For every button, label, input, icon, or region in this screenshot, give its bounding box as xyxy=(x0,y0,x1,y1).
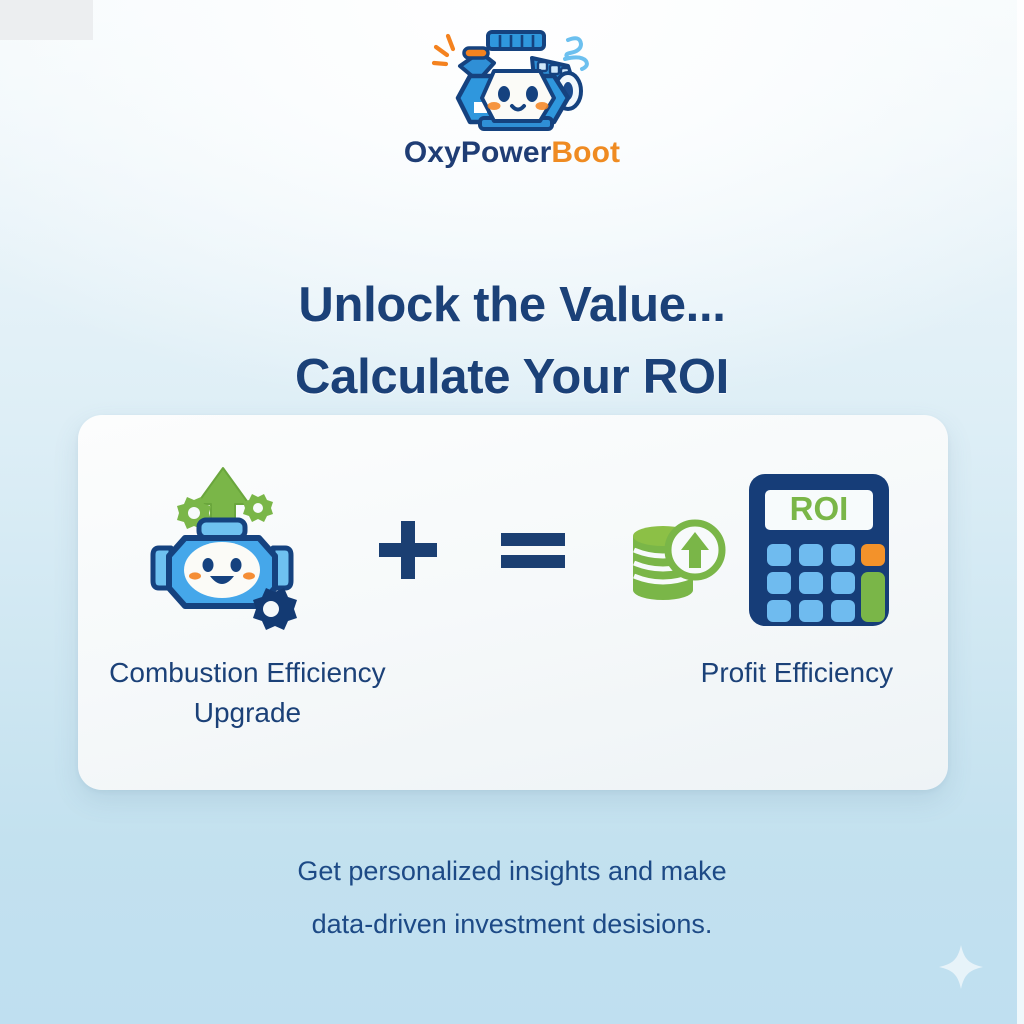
brand-name-primary: OxyPower xyxy=(404,136,552,169)
calculator-key-orange xyxy=(861,544,885,566)
brand-name-accent: Boot xyxy=(551,136,620,169)
label-combustion-upgrade: Combustion Efficiency Upgrade xyxy=(78,653,417,734)
blush-left xyxy=(189,572,201,579)
poster-canvas: OxyPowerBoot Unlock the Value... Calcula… xyxy=(0,0,1024,1024)
value-equation-card: ROI xyxy=(78,415,948,790)
equation-labels: Combustion Efficiency Upgrade Profit Eff… xyxy=(78,653,948,734)
equation-operator-equals xyxy=(468,527,598,573)
calculator-keys xyxy=(767,544,855,622)
equation-term-1 xyxy=(98,460,348,640)
equation-result: ROI xyxy=(598,466,928,634)
equation-operator-plus xyxy=(348,517,468,583)
eye-left xyxy=(498,86,510,102)
eye-right xyxy=(231,558,242,572)
label-left-line-1: Combustion Efficiency xyxy=(109,657,386,688)
engine-upgrade-icon xyxy=(125,460,321,640)
engine-mascot-icon xyxy=(428,26,596,134)
equation-row: ROI xyxy=(78,455,948,645)
page-headline: Unlock the Value... Calculate Your ROI xyxy=(0,269,1024,414)
headline-line-2: Calculate Your ROI xyxy=(0,341,1024,414)
subtext-line-1: Get personalized insights and make xyxy=(0,845,1024,898)
equals-icon xyxy=(499,527,567,573)
blush-right xyxy=(243,572,255,579)
eye-left xyxy=(203,558,214,572)
headline-line-1: Unlock the Value... xyxy=(0,269,1024,342)
calculator-key-green xyxy=(861,572,885,622)
eye-right xyxy=(526,86,538,102)
engine-body xyxy=(458,32,581,129)
sparkle-icon xyxy=(938,944,984,990)
spark-lines-icon xyxy=(434,36,453,64)
label-left-line-2: Upgrade xyxy=(194,697,301,728)
calculator-display-text: ROI xyxy=(790,490,849,527)
roi-calculator-icon: ROI xyxy=(735,466,903,634)
blush-left xyxy=(488,102,501,110)
blush-right xyxy=(536,102,549,110)
subtext-line-2: data-driven investment desisions. xyxy=(0,898,1024,951)
page-subtext: Get personalized insights and make data-… xyxy=(0,845,1024,950)
face-plate xyxy=(184,542,260,598)
brand-logo-block: OxyPowerBoot xyxy=(0,26,1024,168)
brand-wordmark: OxyPowerBoot xyxy=(0,138,1024,168)
label-profit-efficiency: Profit Efficiency xyxy=(646,653,948,693)
plus-icon xyxy=(375,517,441,583)
gear-green-right-icon xyxy=(243,494,273,522)
coin-stack-growth-icon xyxy=(623,502,727,606)
